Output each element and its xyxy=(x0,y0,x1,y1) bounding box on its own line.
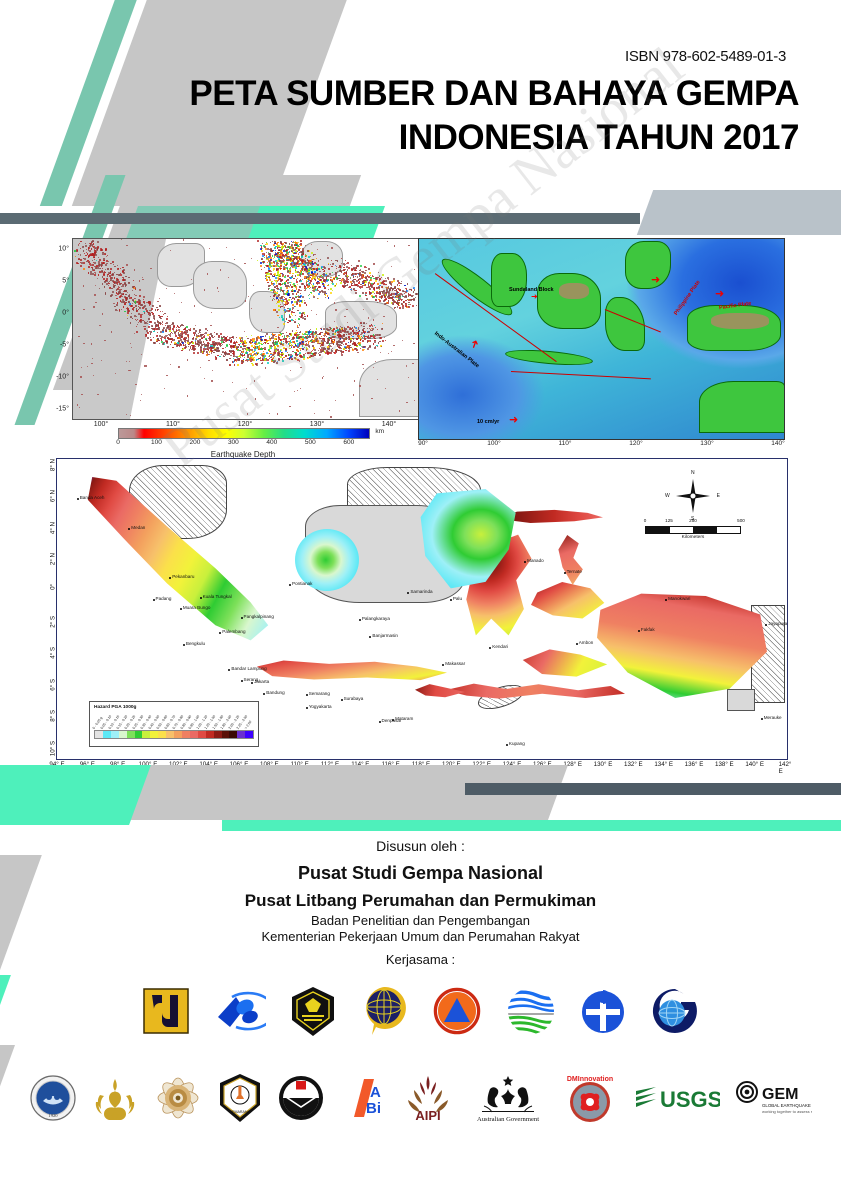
quake-dot xyxy=(400,283,402,285)
quake-dot xyxy=(392,302,393,303)
quake-dot xyxy=(260,265,262,267)
city-label: Bengkulu xyxy=(186,641,205,646)
quake-dot xyxy=(114,306,115,307)
quake-y-tick: 0° xyxy=(62,310,69,317)
quake-dot xyxy=(130,322,132,324)
quake-dot xyxy=(298,296,300,298)
quake-dot xyxy=(351,335,352,336)
quake-dot xyxy=(317,290,318,291)
quake-dot xyxy=(148,301,150,303)
quake-dot xyxy=(261,258,263,260)
quake-dot xyxy=(107,275,108,276)
quake-dot xyxy=(141,354,142,355)
quake-dot xyxy=(396,299,397,300)
quake-dot xyxy=(116,298,117,299)
compass-rose-icon: N S E W xyxy=(672,475,714,517)
quake-dot xyxy=(106,278,108,280)
quake-dot xyxy=(327,329,329,331)
quake-dot xyxy=(362,340,364,342)
quake-dot xyxy=(360,348,362,350)
quake-dot xyxy=(353,289,354,290)
quake-dot xyxy=(321,351,322,352)
city-marker xyxy=(251,682,253,684)
quake-dot xyxy=(138,299,140,301)
australian-government-logo: Australian Government xyxy=(470,1073,546,1123)
quake-dot xyxy=(367,328,369,330)
hazard-y-tick: 4° S xyxy=(50,647,57,659)
quake-dot xyxy=(101,360,102,361)
city-marker xyxy=(153,599,155,601)
svg-text:Bi: Bi xyxy=(366,1100,381,1117)
quake-dot xyxy=(187,395,188,396)
quake-dot xyxy=(264,339,266,341)
quake-dot xyxy=(302,251,304,253)
quake-dot xyxy=(285,242,287,244)
quake-dot xyxy=(289,272,291,274)
quake-dot xyxy=(323,376,324,377)
quake-dot xyxy=(245,300,246,301)
tectonic-map-canvas: Sundaland Block Philippine Plate Pacific… xyxy=(419,239,784,439)
quake-dot xyxy=(335,336,336,337)
quake-dot xyxy=(149,313,151,315)
quake-dot xyxy=(277,291,278,292)
quake-dot xyxy=(408,295,410,297)
city-marker xyxy=(306,694,308,696)
quake-dot xyxy=(264,349,266,351)
quake-dot xyxy=(162,343,164,345)
quake-dot xyxy=(399,410,400,411)
quake-dot xyxy=(205,332,207,334)
quake-dot xyxy=(91,363,92,364)
quake-dot xyxy=(245,352,247,354)
quake-dot xyxy=(373,367,374,368)
quake-dot xyxy=(269,345,271,347)
quake-dot xyxy=(258,342,260,344)
quake-dot xyxy=(380,352,381,353)
quake-dot xyxy=(342,285,344,287)
quake-dot xyxy=(104,260,105,261)
city-marker xyxy=(169,577,171,579)
quake-dot xyxy=(405,303,407,305)
quake-dot xyxy=(294,321,296,323)
quake-dot xyxy=(149,305,150,306)
quake-dot xyxy=(357,352,358,353)
quake-dot xyxy=(289,406,290,407)
mountain-shading-papua xyxy=(711,313,769,329)
quake-dot xyxy=(276,303,278,305)
quake-dot xyxy=(226,247,227,248)
quake-dot xyxy=(144,365,145,366)
quake-dot xyxy=(321,336,322,337)
quake-dot xyxy=(408,245,409,246)
quake-dot xyxy=(273,261,275,263)
quake-dot xyxy=(278,279,280,281)
partner-logos-row-2: 1920 xyxy=(0,1072,841,1124)
quake-dot xyxy=(368,268,370,270)
quake-dot xyxy=(330,416,331,417)
quake-dot xyxy=(267,362,269,364)
quake-dot xyxy=(285,342,286,343)
quake-dot xyxy=(334,302,335,303)
usgs-wordmark: USGS xyxy=(660,1087,720,1112)
quake-dot xyxy=(272,255,273,256)
arrow-philippine-plate: ➜ xyxy=(651,275,660,286)
legend-swatch xyxy=(222,731,230,738)
quake-dot xyxy=(311,310,312,311)
compass-rose-and-scalebar: N S E W 0125250500 Kilometers xyxy=(645,475,741,540)
quake-dot xyxy=(347,322,348,323)
quake-dot xyxy=(358,282,360,284)
quake-dot xyxy=(303,358,305,360)
quake-dot xyxy=(167,335,168,336)
quake-dot xyxy=(362,271,363,272)
quake-dot xyxy=(298,254,300,256)
quake-dot xyxy=(289,315,290,316)
city-marker xyxy=(564,572,566,574)
quake-dot xyxy=(321,281,323,283)
quake-dot xyxy=(220,269,221,270)
legend-swatch xyxy=(190,731,198,738)
quake-dot xyxy=(353,332,355,334)
quake-dot xyxy=(83,268,85,270)
quake-dot xyxy=(311,244,312,245)
quake-dot xyxy=(126,361,127,362)
quake-dot xyxy=(338,340,340,342)
quake-dot xyxy=(337,260,338,261)
quake-dot xyxy=(368,317,369,318)
quake-dot xyxy=(140,304,141,305)
quake-dot xyxy=(312,342,313,343)
quake-dot xyxy=(305,353,306,354)
quake-dot xyxy=(375,280,377,282)
quake-dot xyxy=(310,263,312,265)
title-line-2: INDONESIA TAHUN 2017 xyxy=(0,116,799,160)
quake-dot xyxy=(85,243,86,244)
quake-x-tick: 120° xyxy=(238,421,252,428)
quake-dot xyxy=(383,290,385,292)
quake-dot xyxy=(372,326,373,327)
credits-collab-label: Kerjasama : xyxy=(0,952,841,967)
quake-dot xyxy=(339,275,341,277)
credits-block: Disusun oleh : Pusat Studi Gempa Nasiona… xyxy=(0,838,841,967)
quake-x-tick: 110° xyxy=(166,421,180,428)
scalebar-tick: 250 xyxy=(689,518,697,523)
quake-dot xyxy=(293,312,295,314)
isbn-text: ISBN 978-602-5489-01-3 xyxy=(625,48,786,65)
quake-dot xyxy=(172,347,174,349)
quake-dot xyxy=(353,267,355,269)
city-marker xyxy=(200,597,202,599)
quake-dot xyxy=(374,282,376,284)
quake-dot xyxy=(126,308,127,309)
australian-government-caption: Australian Government xyxy=(476,1116,538,1123)
quake-dot xyxy=(280,262,282,264)
quake-dot xyxy=(307,315,309,317)
quake-dot xyxy=(318,260,319,261)
quake-dot xyxy=(136,316,137,317)
quake-dot xyxy=(298,337,300,339)
quake-dot xyxy=(266,255,267,256)
quake-dot xyxy=(112,280,114,282)
city-label: Bandung xyxy=(266,690,284,695)
quake-dot xyxy=(379,276,380,277)
legend-swatch xyxy=(142,731,150,738)
quake-dot xyxy=(412,305,414,307)
quake-dot xyxy=(370,330,371,331)
quake-dot xyxy=(362,292,364,294)
quake-dot xyxy=(276,299,277,300)
quake-dot xyxy=(104,340,105,341)
quake-dot xyxy=(93,269,94,270)
quake-dot xyxy=(276,283,277,284)
hazard-y-tick: 8° S xyxy=(50,710,57,722)
quake-dot xyxy=(112,262,113,263)
quake-dot xyxy=(360,288,361,289)
island-java-hazard xyxy=(257,655,447,689)
city-label: Jakarta xyxy=(254,679,269,684)
hazard-y-tick: 8° N xyxy=(50,459,57,471)
gem-logo: GEM GLOBAL EARTHQUAKE MODEL working toge… xyxy=(736,1079,812,1117)
quake-dot xyxy=(303,354,305,356)
bppt-logo xyxy=(214,987,266,1035)
quake-dot xyxy=(126,290,127,291)
quake-dot xyxy=(164,313,166,315)
quake-dot xyxy=(192,342,194,344)
quake-dot xyxy=(297,278,298,279)
quake-dot xyxy=(370,279,372,281)
quake-dot xyxy=(276,311,278,313)
quake-dot xyxy=(202,338,204,340)
quake-dot xyxy=(292,355,293,356)
city-label: Merauke xyxy=(764,715,782,720)
quake-dot xyxy=(359,295,361,297)
quake-dot xyxy=(361,323,362,324)
quake-dot xyxy=(275,309,276,310)
quake-dot xyxy=(80,376,81,377)
quake-dot xyxy=(313,296,315,298)
quake-dot xyxy=(331,330,332,331)
quake-dot xyxy=(223,356,224,357)
quake-dot xyxy=(251,335,253,337)
quake-dot xyxy=(397,285,398,286)
quake-dot xyxy=(272,360,274,362)
legend-swatch xyxy=(198,731,206,738)
quake-dot xyxy=(313,290,315,292)
quake-dot xyxy=(313,347,315,349)
quake-dot xyxy=(261,329,262,330)
quake-dot xyxy=(115,373,116,374)
quake-dot xyxy=(200,334,202,336)
quake-dot xyxy=(131,347,132,348)
quake-dot xyxy=(348,267,350,269)
quake-dot xyxy=(139,295,141,297)
quake-dot xyxy=(324,291,326,293)
quake-x-tick: 140° xyxy=(382,421,396,428)
quake-dot xyxy=(273,289,275,291)
quake-dot xyxy=(323,328,325,330)
quake-dot xyxy=(318,268,320,270)
quake-dot xyxy=(129,361,130,362)
quake-dot xyxy=(249,341,251,343)
quake-dot xyxy=(377,379,378,380)
quake-dot xyxy=(309,277,310,278)
city-label: Medan xyxy=(131,525,145,530)
tectonic-x-tick: 110° xyxy=(559,440,572,447)
quake-dot xyxy=(277,315,279,317)
quake-dot xyxy=(117,302,119,304)
quake-dot xyxy=(190,342,191,343)
quake-dot xyxy=(118,286,119,287)
city-label: Padang xyxy=(156,596,172,601)
quake-dot xyxy=(87,253,89,255)
quake-dot xyxy=(275,265,277,267)
quake-dot xyxy=(209,337,210,338)
quake-dot xyxy=(165,323,167,325)
colorbar-tick: 300 xyxy=(228,439,239,446)
quake-dot xyxy=(122,285,124,287)
quake-dot xyxy=(78,336,79,337)
quake-dot xyxy=(277,242,278,243)
quake-dot xyxy=(394,300,395,301)
quake-dot xyxy=(260,336,262,338)
quake-dot xyxy=(302,338,304,340)
quake-dot xyxy=(210,325,211,326)
quake-dot xyxy=(97,278,98,279)
quake-dot xyxy=(142,314,144,316)
quake-dot xyxy=(95,247,97,249)
quake-dot xyxy=(407,283,408,284)
quake-dot xyxy=(99,259,101,261)
quake-dot xyxy=(348,287,350,289)
quake-dot xyxy=(358,260,359,261)
quake-dot xyxy=(253,354,254,355)
quake-dot xyxy=(117,265,118,266)
quake-dot xyxy=(318,282,320,284)
quake-dot xyxy=(304,318,305,319)
quake-dot xyxy=(307,348,309,350)
quake-dot xyxy=(229,358,231,360)
quake-dot xyxy=(105,269,106,270)
quake-dot xyxy=(278,294,280,296)
quake-dot xyxy=(369,288,371,290)
quake-dot xyxy=(371,398,372,399)
quake-dot xyxy=(367,348,369,350)
quake-dot xyxy=(351,285,353,287)
quake-dot xyxy=(325,294,327,296)
quake-dot xyxy=(320,259,321,260)
quake-dot xyxy=(292,315,293,316)
quake-dot xyxy=(159,305,161,307)
quake-dot xyxy=(218,337,219,338)
undip-caption: SEMARANG xyxy=(229,1110,250,1114)
quake-dot xyxy=(184,329,185,330)
quake-dot xyxy=(191,279,192,280)
quake-dot xyxy=(356,349,358,351)
quake-dot xyxy=(402,340,403,341)
iabi-logo: i A Bi xyxy=(340,1075,386,1121)
quake-dot xyxy=(264,358,266,360)
quake-dot xyxy=(105,264,107,266)
quake-dot xyxy=(316,328,318,330)
quake-dot xyxy=(308,342,310,344)
hazard-x-tick: 132° E xyxy=(624,761,643,768)
quake-dot xyxy=(309,288,310,289)
quake-dot xyxy=(299,286,301,288)
quake-dot xyxy=(344,316,345,317)
quake-dot xyxy=(161,339,162,340)
quake-dot xyxy=(271,262,273,264)
quake-dot xyxy=(296,281,298,283)
quake-dot xyxy=(366,298,368,300)
city-label: Manokwari xyxy=(668,596,690,601)
quake-dot xyxy=(122,279,124,281)
quake-dot xyxy=(293,258,295,260)
quake-dot xyxy=(135,295,136,296)
quake-dot xyxy=(310,357,311,358)
quake-dot xyxy=(264,253,265,254)
quake-dot xyxy=(103,274,105,276)
quake-dot xyxy=(195,330,197,332)
legend-swatch xyxy=(127,731,135,738)
quake-dot xyxy=(280,339,281,340)
quake-dot xyxy=(345,338,347,340)
quake-dot xyxy=(135,288,136,289)
legend-swatch xyxy=(214,731,222,738)
quake-dot xyxy=(116,304,118,306)
quake-dot xyxy=(322,377,323,378)
quake-dot xyxy=(153,315,155,317)
quake-dot xyxy=(297,327,298,328)
quake-map-canvas xyxy=(73,239,431,419)
quake-dot xyxy=(214,336,215,337)
land-malay-peninsula xyxy=(491,253,527,307)
quake-dot xyxy=(269,336,270,337)
quake-dot xyxy=(202,353,203,354)
quake-dot xyxy=(259,345,260,346)
quake-dot xyxy=(381,286,383,288)
island-papua-hazard xyxy=(597,589,767,705)
quake-dot xyxy=(156,335,158,337)
tectonic-x-tick: 90° xyxy=(418,440,428,447)
quake-dot xyxy=(187,359,188,360)
quake-dot xyxy=(286,318,287,319)
city-marker xyxy=(638,630,640,632)
quake-dot xyxy=(219,356,221,358)
quake-dot xyxy=(356,270,357,271)
quake-dot xyxy=(307,286,309,288)
undip-semarang-logo: SEMARANG xyxy=(218,1073,262,1123)
quake-dot xyxy=(266,352,268,354)
city-label: Manado xyxy=(527,558,544,563)
quake-dot xyxy=(204,289,205,290)
quake-dot xyxy=(324,270,326,272)
quake-dot xyxy=(251,308,252,309)
quake-dot xyxy=(265,278,266,279)
deco-shape-gray-right xyxy=(637,190,841,235)
quake-dot xyxy=(127,312,129,314)
quake-dot xyxy=(351,265,353,267)
colorbar-tick: 400 xyxy=(266,439,277,446)
quake-dot xyxy=(365,270,366,271)
quake-dot xyxy=(83,309,84,310)
quake-dot xyxy=(366,279,368,281)
usgs-logo: USGS xyxy=(634,1081,720,1115)
city-marker xyxy=(576,643,578,645)
quake-dot xyxy=(342,351,344,353)
quake-dot xyxy=(376,277,378,279)
quake-dot xyxy=(110,295,111,296)
quake-dot xyxy=(297,332,298,333)
